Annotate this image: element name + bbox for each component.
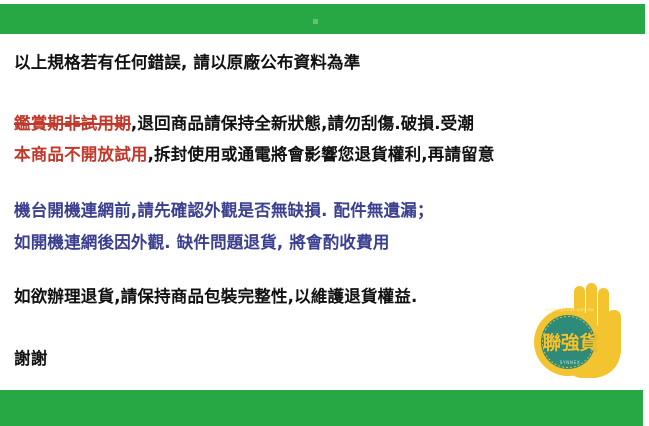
notice-line-no-trial-rest: ,拆封使用或通電將會影響您退貨權利,再請留意 [148,145,495,164]
notice-line-keep-packaging: 如欲辦理退貨,請保持商品包裝完整性,以維護退貨權益. [14,287,418,307]
top-green-bar [0,4,645,34]
ok-hand-logo: www.synnex.com.tw 聯強貨 SYNNEX [530,272,642,382]
notice-line-spec-disclaimer: 以上規格若有任何錯誤, 請以原廠公布資料為準 [14,53,360,73]
logo-arc-bottom-text: SYNNEX [536,360,604,365]
notice-page: 以上規格若有任何錯誤, 請以原廠公布資料為準 鑑賞期非試用期,退回商品請保持全新… [0,0,649,426]
ok-hand-icon [530,272,642,382]
notice-line-trial-period-rest: ,退回商品請保持全新狀態,請勿刮傷.破損.受潮 [131,114,474,133]
notice-line-fee-after-power-on: 如開機連網後因外觀. 缺件問題退貨, 將會酌收費用 [14,233,390,253]
notice-line-check-before-power-on: 機台開機連網前,請先確認外觀是否無缺損. 配件無遺漏； [14,201,434,221]
bottom-green-bar [0,390,643,426]
notice-line-trial-period: 鑑賞期非試用期,退回商品請保持全新狀態,請勿刮傷.破損.受潮 [14,114,474,134]
notice-line-thanks: 謝謝 [14,349,47,369]
logo-arc-top-text: www.synnex.com.tw [536,307,604,312]
notice-line-no-trial: 本商品不開放試用,拆封使用或通電將會影響您退貨權利,再請留意 [14,145,495,165]
top-bar-speck [313,19,318,24]
notice-line-no-trial-highlight: 本商品不開放試用 [14,145,148,164]
notice-line-trial-period-highlight: 鑑賞期非試用期 [14,114,131,133]
logo-badge-text: 聯強貨 [530,328,610,355]
